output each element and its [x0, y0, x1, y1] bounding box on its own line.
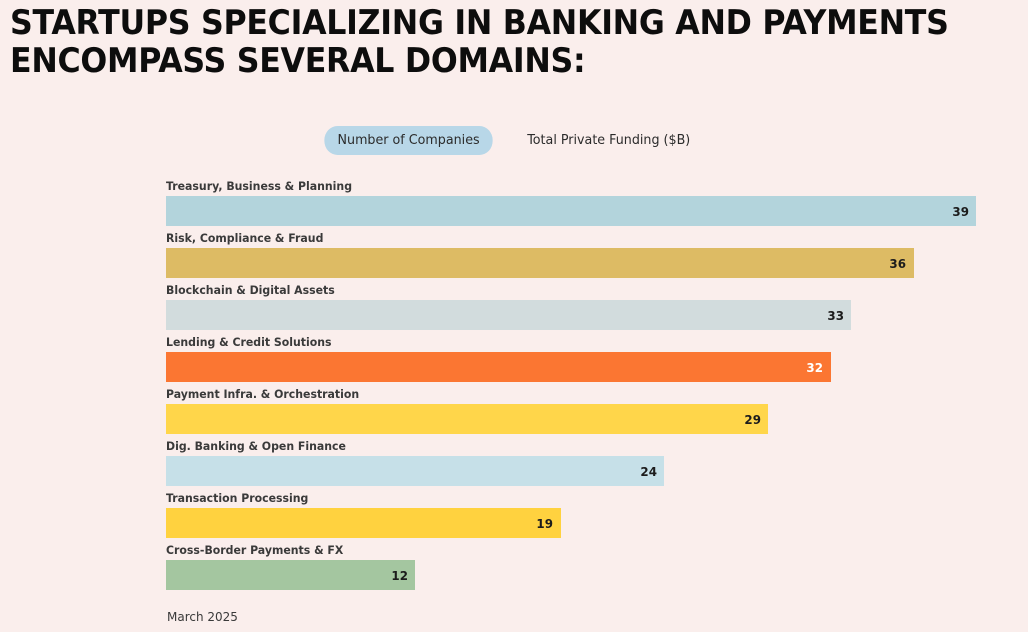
bar-fill[interactable]: 39: [166, 196, 976, 226]
bar-fill[interactable]: 29: [166, 404, 768, 434]
bar-fill[interactable]: 12: [166, 560, 415, 590]
bar-category-label: Risk, Compliance & Fraud: [166, 232, 945, 248]
bar-value-label: 33: [827, 308, 844, 323]
bar-value-label: 12: [391, 568, 408, 583]
bar-fill[interactable]: 19: [166, 508, 561, 538]
bar-row[interactable]: Cross-Border Payments & FX12: [166, 544, 986, 596]
bar-row[interactable]: Treasury, Business & Planning39: [166, 180, 986, 232]
bar-category-label: Transaction Processing: [166, 492, 945, 508]
bar-track: 33: [166, 300, 986, 330]
bar-row[interactable]: Transaction Processing19: [166, 492, 986, 544]
bar-value-label: 24: [640, 464, 657, 479]
metric-toggle: Number of Companies Total Private Fundin…: [0, 126, 1028, 155]
bar-value-label: 39: [952, 204, 969, 219]
bar-category-label: Lending & Credit Solutions: [166, 336, 945, 352]
bar-row[interactable]: Payment Infra. & Orchestration29: [166, 388, 986, 440]
bar-row[interactable]: Risk, Compliance & Fraud36: [166, 232, 986, 284]
metric-option-total-private-funding[interactable]: Total Private Funding ($B): [514, 126, 703, 155]
bar-fill[interactable]: 33: [166, 300, 851, 330]
page-title: STARTUPS SPECIALIZING IN BANKING AND PAY…: [10, 4, 949, 80]
chart-date-footer: March 2025: [167, 609, 238, 624]
bar-track: 32: [166, 352, 986, 382]
bar-category-label: Cross-Border Payments & FX: [166, 544, 945, 560]
bar-track: 19: [166, 508, 986, 538]
bar-category-label: Treasury, Business & Planning: [166, 180, 945, 196]
bar-fill[interactable]: 24: [166, 456, 664, 486]
bar-track: 24: [166, 456, 986, 486]
bar-row[interactable]: Lending & Credit Solutions32: [166, 336, 986, 388]
bar-category-label: Dig. Banking & Open Finance: [166, 440, 945, 456]
bar-track: 36: [166, 248, 986, 278]
bar-fill[interactable]: 36: [166, 248, 914, 278]
bar-track: 29: [166, 404, 986, 434]
bar-row[interactable]: Blockchain & Digital Assets33: [166, 284, 986, 336]
bar-value-label: 29: [744, 412, 761, 427]
bar-row[interactable]: Dig. Banking & Open Finance24: [166, 440, 986, 492]
bar-category-label: Payment Infra. & Orchestration: [166, 388, 945, 404]
bar-value-label: 32: [807, 360, 824, 375]
bar-track: 12: [166, 560, 986, 590]
bar-value-label: 19: [537, 516, 554, 531]
bar-track: 39: [166, 196, 986, 226]
metric-option-number-of-companies[interactable]: Number of Companies: [324, 126, 492, 155]
bar-chart: Treasury, Business & Planning39Risk, Com…: [166, 180, 986, 596]
bar-fill[interactable]: 32: [166, 352, 831, 382]
bar-category-label: Blockchain & Digital Assets: [166, 284, 945, 300]
bar-value-label: 36: [890, 256, 907, 271]
